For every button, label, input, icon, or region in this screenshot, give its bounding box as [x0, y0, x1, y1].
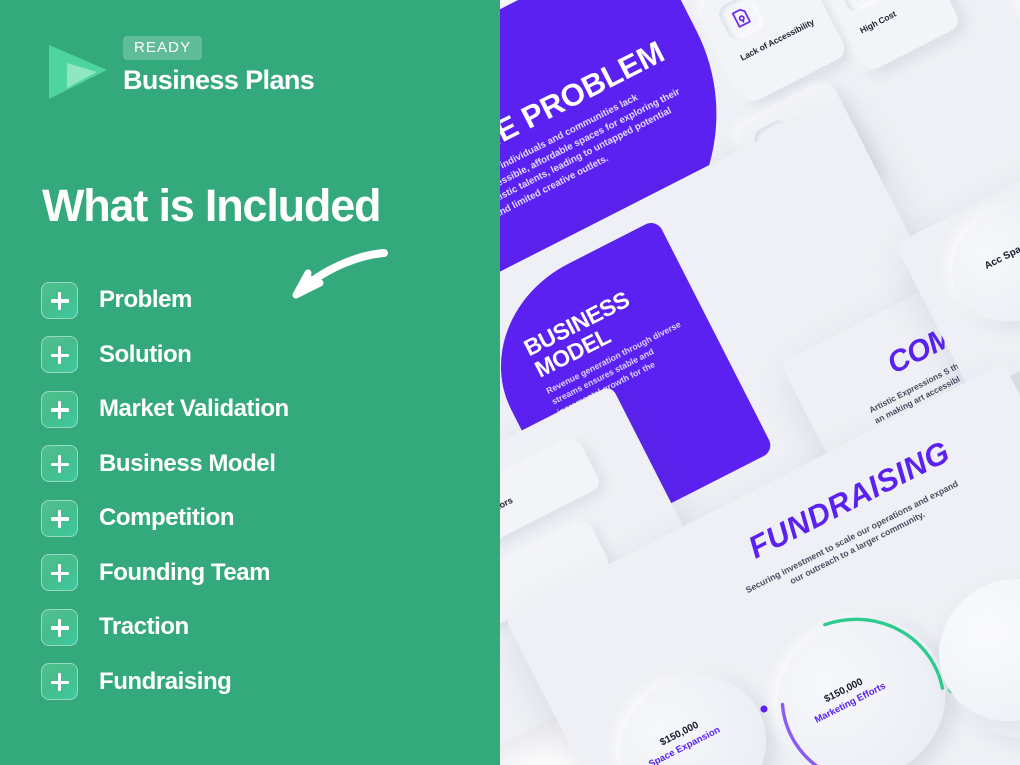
problem-card-high-cost[interactable]: High Cost — [819, 0, 962, 73]
checklist-item-label: Traction — [99, 615, 189, 639]
checklist-item-label: Competition — [99, 506, 234, 530]
play-triangle-icon — [45, 41, 111, 103]
checklist-item-fundraising[interactable]: Fundraising — [41, 663, 461, 701]
plus-icon — [41, 391, 78, 428]
checklist-item-label: Business Model — [99, 452, 275, 476]
checklist-item-label: Founding Team — [99, 561, 270, 585]
brand-lockup: READY Business Plans — [45, 36, 375, 116]
lock-document-icon — [716, 0, 767, 43]
checklist-item-problem[interactable]: Problem — [41, 281, 461, 319]
plus-icon — [41, 282, 78, 319]
checklist-item-label: Problem — [99, 288, 192, 312]
plus-icon — [41, 500, 78, 537]
plus-icon — [41, 609, 78, 646]
included-checklist: Problem Solution Market Validation Busin… — [41, 281, 461, 717]
checklist-item-market-validation[interactable]: Market Validation — [41, 390, 461, 428]
plus-icon — [41, 554, 78, 591]
plus-icon — [41, 336, 78, 373]
checklist-item-solution[interactable]: Solution — [41, 336, 461, 374]
checklist-item-business-model[interactable]: Business Model — [41, 445, 461, 483]
checklist-item-competition[interactable]: Competition — [41, 499, 461, 537]
checklist-item-label: Market Validation — [99, 397, 289, 421]
checklist-item-label: Solution — [99, 343, 191, 367]
brand-text-block: READY Business Plans — [123, 36, 314, 95]
left-green-panel: READY Business Plans What is Included Pr… — [0, 0, 500, 765]
brand-title: Business Plans — [123, 65, 314, 95]
line-chart-icon — [836, 0, 884, 15]
ready-badge: READY — [123, 36, 202, 60]
screenshot-root: THE PROBLEM Many individuals and communi… — [0, 0, 1020, 765]
checklist-item-founding-team[interactable]: Founding Team — [41, 554, 461, 592]
plus-icon — [41, 445, 78, 482]
checklist-item-traction[interactable]: Traction — [41, 608, 461, 646]
slide-collage-panel: THE PROBLEM Many individuals and communi… — [500, 0, 1020, 765]
page-title: What is Included — [42, 182, 380, 229]
plus-icon — [41, 663, 78, 700]
checklist-item-label: Fundraising — [99, 670, 231, 694]
